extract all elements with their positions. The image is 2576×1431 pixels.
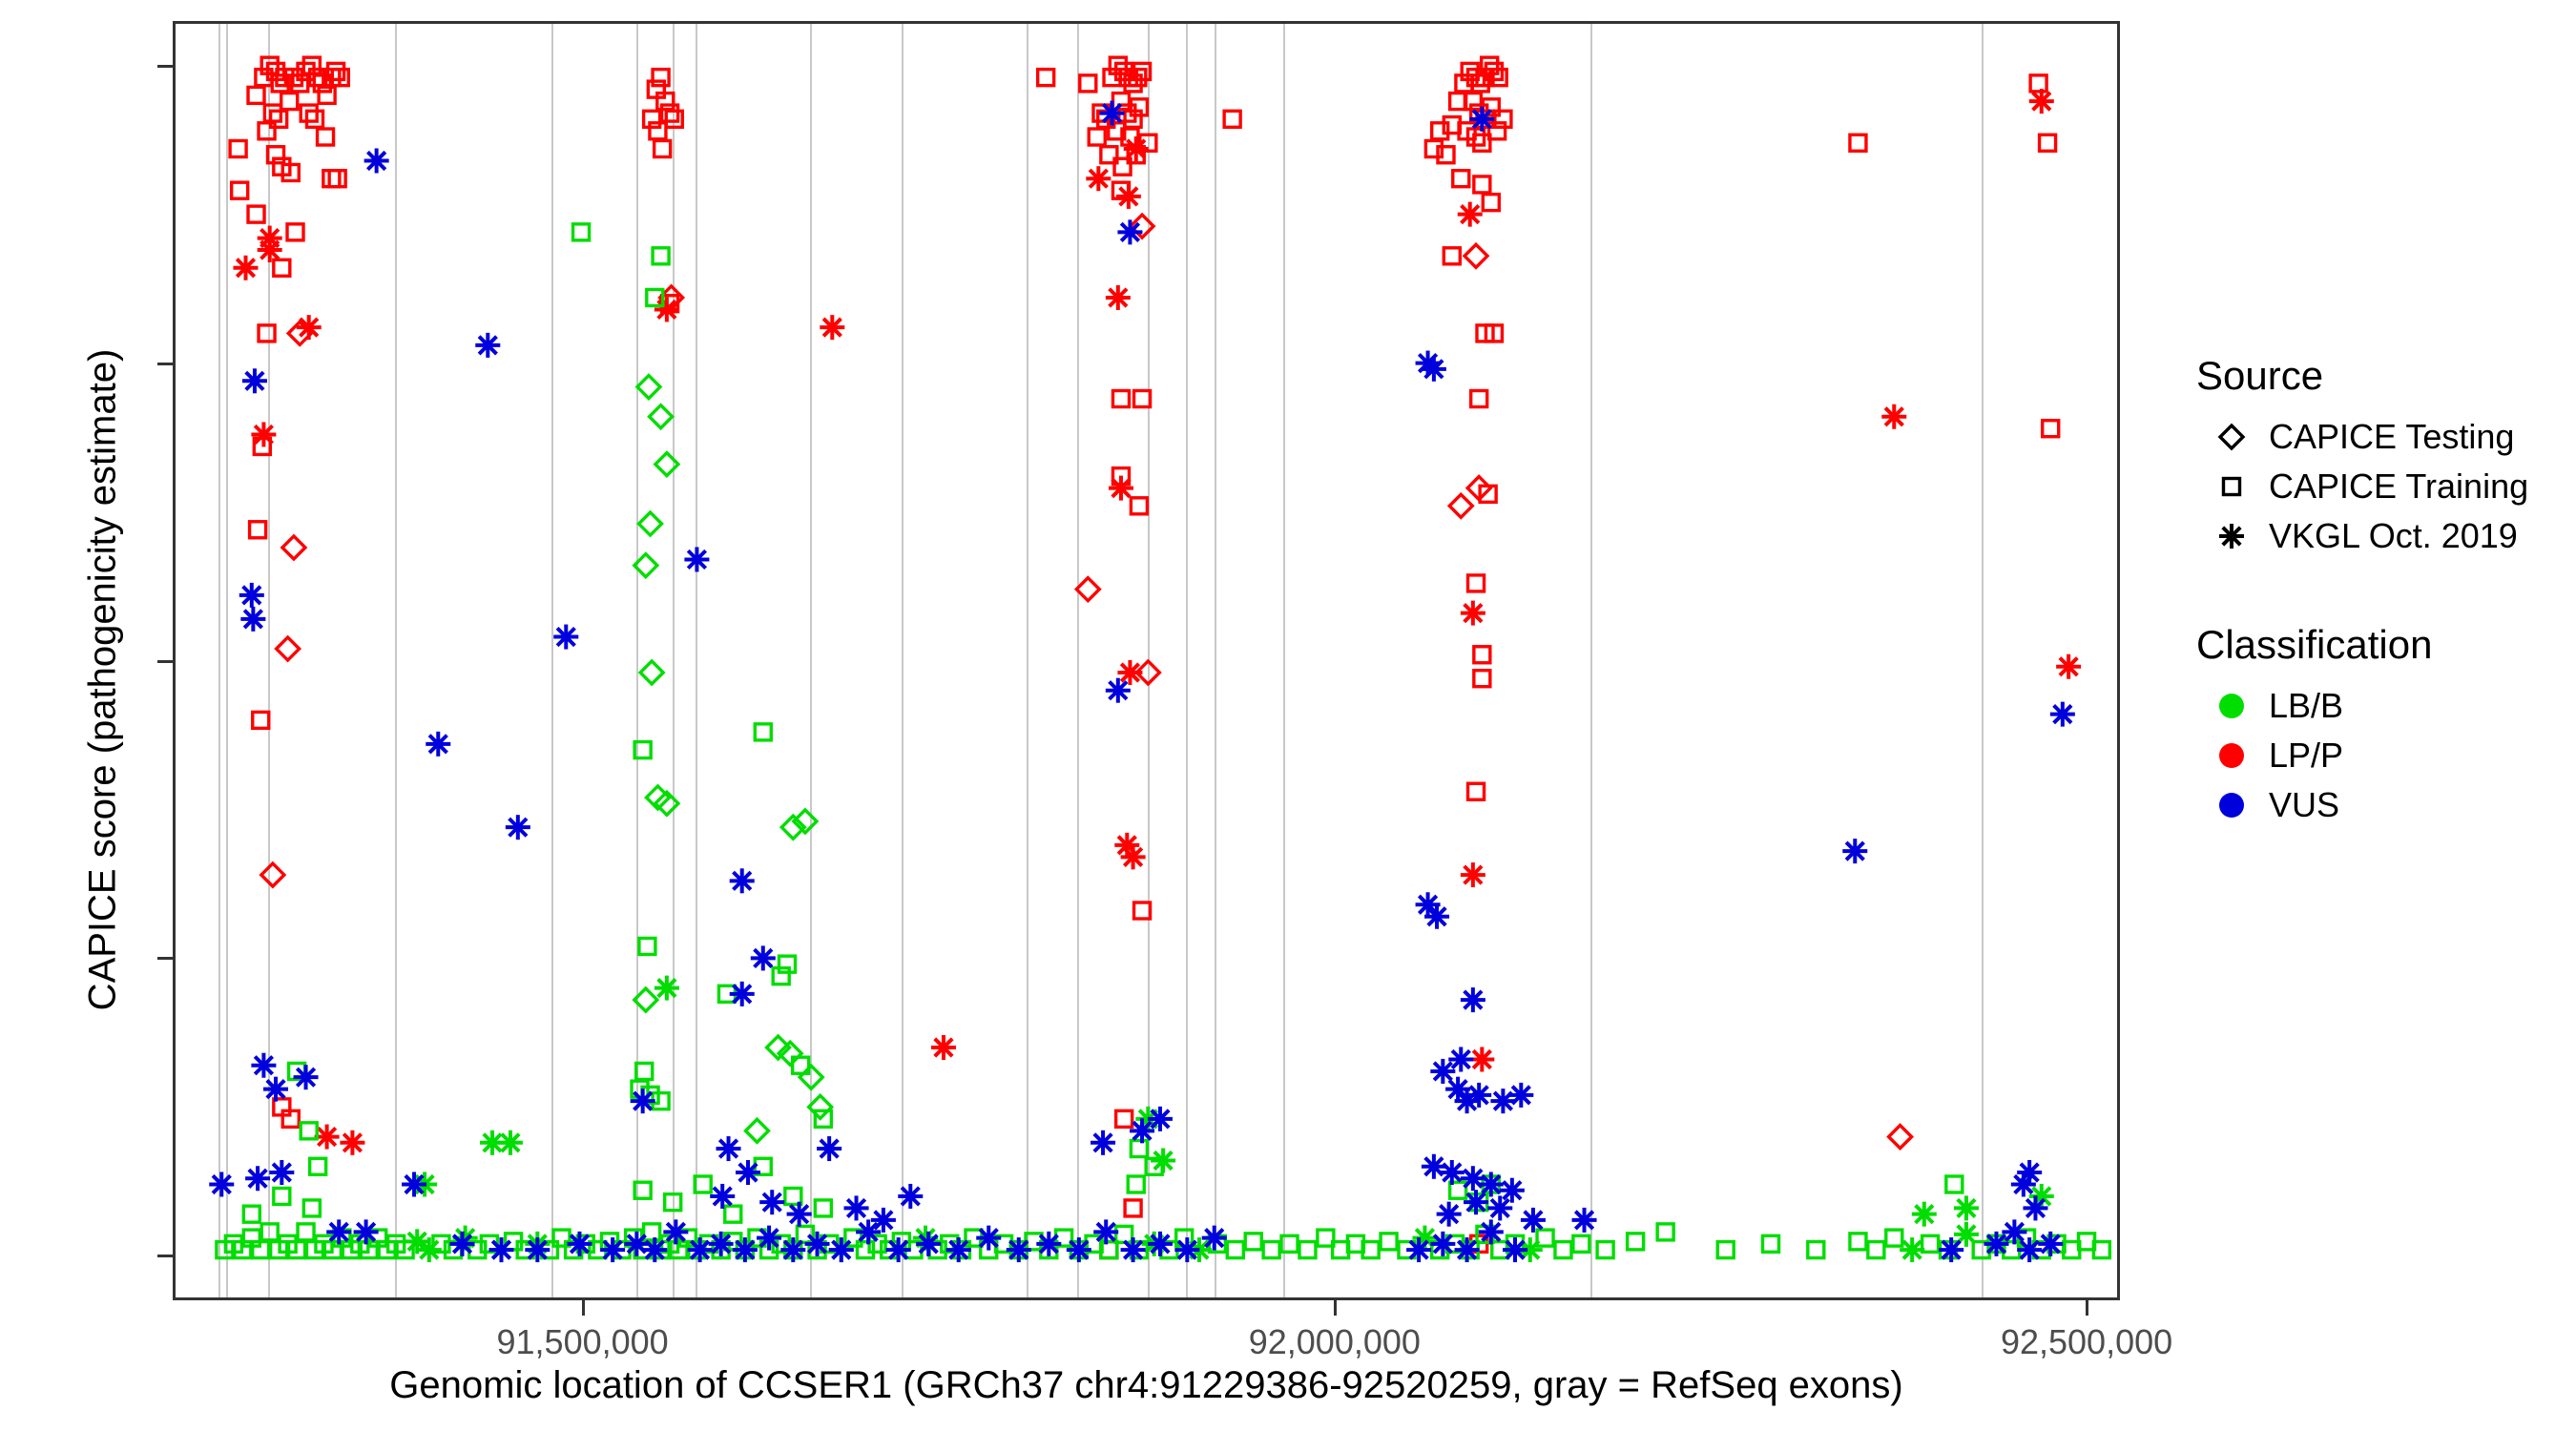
color-swatch bbox=[2219, 694, 2244, 718]
legend-label: LP/P bbox=[2269, 736, 2343, 776]
color-dot-icon bbox=[2194, 743, 2269, 768]
color-swatch bbox=[2219, 793, 2244, 818]
legend-title-classification: Classification bbox=[2196, 622, 2576, 668]
legend-spacer bbox=[2194, 561, 2576, 622]
legend-classification-rows: LB/BLP/PVUS bbox=[2194, 681, 2576, 830]
legend-label: VUS bbox=[2269, 785, 2339, 825]
x-axis-title: Genomic location of CCSER1 (GRCh37 chr4:… bbox=[173, 1364, 2120, 1407]
asterisk-icon bbox=[2194, 514, 2269, 558]
legend-label: CAPICE Training bbox=[2269, 467, 2528, 507]
legend-item-classification-1[interactable]: LP/P bbox=[2194, 731, 2576, 780]
legend-item-classification-2[interactable]: VUS bbox=[2194, 780, 2576, 830]
plot-panel bbox=[173, 21, 2120, 1300]
legend-label: VKGL Oct. 2019 bbox=[2269, 516, 2518, 556]
x-tick-label: 91,500,000 bbox=[440, 1322, 726, 1362]
series-lbb bbox=[217, 224, 2109, 1262]
scatter-points bbox=[176, 24, 2117, 1297]
legend-label: CAPICE Testing bbox=[2269, 417, 2514, 457]
legend-item-source-0[interactable]: CAPICE Testing bbox=[2194, 412, 2576, 462]
y-tick bbox=[157, 363, 173, 365]
y-axis-title: CAPICE score (pathogenicity estimate) bbox=[82, 299, 125, 1062]
legend-item-source-1[interactable]: CAPICE Training bbox=[2194, 462, 2576, 511]
legend-source-rows: CAPICE TestingCAPICE TrainingVKGL Oct. 2… bbox=[2194, 412, 2576, 561]
legend-item-source-2[interactable]: VKGL Oct. 2019 bbox=[2194, 511, 2576, 561]
x-tick-label: 92,500,000 bbox=[1943, 1322, 2230, 1362]
x-tick bbox=[1334, 1300, 1337, 1316]
x-tick bbox=[2086, 1300, 2088, 1316]
legend-title-source: Source bbox=[2196, 353, 2576, 399]
legend-label: LB/B bbox=[2269, 686, 2343, 726]
color-dot-icon bbox=[2194, 694, 2269, 718]
plot-area bbox=[176, 24, 2117, 1297]
x-tick-label: 92,000,000 bbox=[1192, 1322, 1478, 1362]
y-tick bbox=[157, 65, 173, 68]
legend: Source CAPICE TestingCAPICE TrainingVKGL… bbox=[2194, 353, 2576, 830]
color-swatch bbox=[2219, 743, 2244, 768]
series-lpp bbox=[230, 57, 2081, 1257]
y-tick bbox=[157, 957, 173, 960]
chart-root: CAPICE score (pathogenicity estimate) 0.… bbox=[0, 0, 2576, 1431]
x-tick bbox=[582, 1300, 585, 1316]
square-icon bbox=[2194, 465, 2269, 508]
diamond-icon bbox=[2194, 415, 2269, 459]
y-tick bbox=[157, 1255, 173, 1257]
series-vus bbox=[209, 101, 2075, 1263]
y-tick bbox=[157, 660, 173, 663]
legend-item-classification-0[interactable]: LB/B bbox=[2194, 681, 2576, 731]
color-dot-icon bbox=[2194, 793, 2269, 818]
